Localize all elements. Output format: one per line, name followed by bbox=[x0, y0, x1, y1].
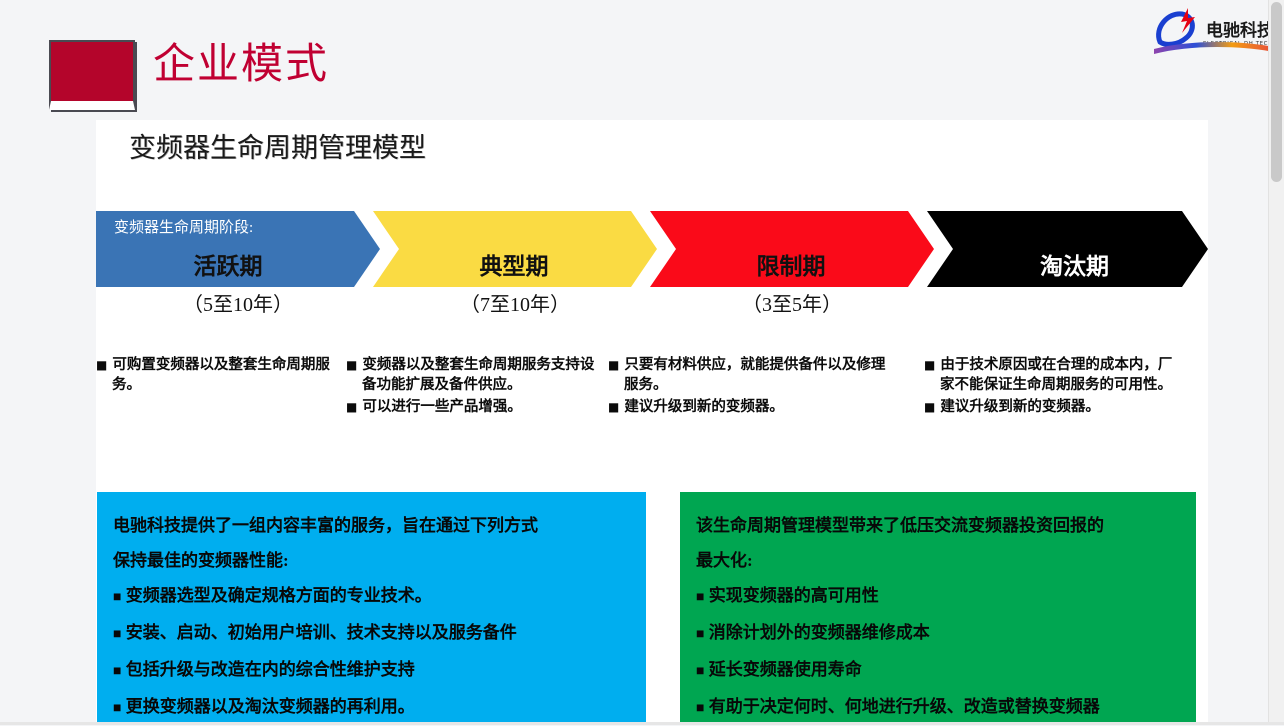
square-bullet-icon: ■ bbox=[608, 358, 619, 372]
stage-label-obsolete: 淘汰期 bbox=[927, 247, 1208, 281]
list-item: ■ 有助于决定何时、何地进行升级、改造或替换变频器 bbox=[696, 689, 1182, 726]
list-item: ■ 变频器选型及确定规格方面的专业技术。 bbox=[113, 578, 632, 615]
lifecycle-stage-band: 变频器生命周期阶段: 活跃期 典型期 限制期 淘汰期 bbox=[96, 211, 1208, 287]
square-bullet-icon: ■ bbox=[113, 664, 121, 679]
stage-chevron-active: 变频器生命周期阶段: 活跃期 bbox=[96, 211, 380, 287]
blue-intro-line-2: 保持最佳的变频器性能: bbox=[113, 543, 632, 578]
stage-years-limited: （3至5年） bbox=[650, 288, 934, 317]
list-item: ■ 可以进行一些产品增强。 bbox=[346, 397, 606, 417]
list-item: ■ 实现变频器的高可用性 bbox=[696, 578, 1182, 615]
scrollbar-thumb[interactable] bbox=[1271, 2, 1282, 182]
stage-label-active: 活跃期 bbox=[96, 247, 380, 281]
stage-chevron-obsolete: 淘汰期 bbox=[927, 211, 1208, 287]
square-bullet-icon: ■ bbox=[96, 358, 107, 372]
stage-years-classic: （7至10年） bbox=[373, 288, 657, 317]
square-bullet-icon: ■ bbox=[696, 590, 704, 605]
square-bullet-icon: ■ bbox=[608, 400, 619, 414]
square-bullet-icon: ■ bbox=[346, 400, 357, 414]
services-blue-box: 电驰科技提供了一组内容丰富的服务，旨在通过下列方式 保持最佳的变频器性能: ■ … bbox=[97, 492, 646, 725]
stage-detail-column-obsolete: ■ 由于技术原因或在合理的成本内，厂家不能保证生命周期服务的可用性。 ■ 建议升… bbox=[924, 355, 1182, 419]
model-title: 变频器生命周期管理模型 bbox=[129, 126, 426, 165]
square-bullet-icon: ■ bbox=[346, 358, 357, 372]
benefits-green-box: 该生命周期管理模型带来了低压交流变频器投资回报的 最大化: ■ 实现变频器的高可… bbox=[680, 492, 1196, 725]
title-accent-block bbox=[49, 40, 135, 110]
dianchi-technology-logo: 电驰科技 TM ELECTRICAL DH TECHNOLOGY bbox=[1148, 2, 1278, 58]
list-item: ■ 包括升级与改造在内的综合性维护支持 bbox=[113, 652, 632, 689]
square-bullet-icon: ■ bbox=[924, 400, 935, 414]
list-item: ■ 建议升级到新的变频器。 bbox=[924, 397, 1182, 417]
stage-band-caption: 变频器生命周期阶段: bbox=[114, 216, 253, 237]
list-item: ■ 由于技术原因或在合理的成本内，厂家不能保证生命周期服务的可用性。 bbox=[924, 355, 1182, 395]
list-item: ■ 延长变频器使用寿命 bbox=[696, 652, 1182, 689]
list-item: ■ 可购置变频器以及整套生命周期服务。 bbox=[96, 355, 344, 395]
square-bullet-icon: ■ bbox=[113, 701, 121, 716]
square-bullet-icon: ■ bbox=[113, 627, 121, 642]
list-item: ■ 消除计划外的变频器维修成本 bbox=[696, 615, 1182, 652]
stage-detail-columns: ■ 可购置变频器以及整套生命周期服务。 ■ 变频器以及整套生命周期服务支持设备功… bbox=[96, 355, 1208, 465]
list-item: ■ 建议升级到新的变频器。 bbox=[608, 397, 888, 417]
vertical-scrollbar[interactable] bbox=[1268, 0, 1284, 725]
list-item: ■ 变频器以及整套生命周期服务支持设备功能扩展及备件供应。 bbox=[346, 355, 606, 395]
square-bullet-icon: ■ bbox=[113, 590, 121, 605]
svg-text:电驰科技: 电驰科技 bbox=[1206, 20, 1275, 41]
square-bullet-icon: ■ bbox=[696, 664, 704, 679]
stage-chevron-classic: 典型期 bbox=[373, 211, 657, 287]
stage-label-classic: 典型期 bbox=[373, 247, 657, 281]
blue-intro-line-1: 电驰科技提供了一组内容丰富的服务，旨在通过下列方式 bbox=[113, 508, 632, 543]
content-panel: 变频器生命周期管理模型 变频器生命周期阶段: 活跃期 典型期 限制期 淘汰期 （… bbox=[96, 120, 1208, 725]
stage-chevron-limited: 限制期 bbox=[650, 211, 934, 287]
square-bullet-icon: ■ bbox=[924, 358, 935, 372]
list-item: ■ 更换变频器以及淘汰变频器的再利用。 bbox=[113, 689, 632, 726]
green-intro-line-1: 该生命周期管理模型带来了低压交流变频器投资回报的 bbox=[696, 508, 1182, 543]
stage-years-active: （5至10年） bbox=[96, 288, 400, 317]
square-bullet-icon: ■ bbox=[696, 701, 704, 716]
list-item: ■ 安装、启动、初始用户培训、技术支持以及服务备件 bbox=[113, 615, 632, 652]
green-intro-line-2: 最大化: bbox=[696, 543, 1182, 578]
page-title: 企业模式 bbox=[153, 43, 329, 85]
stage-label-limited: 限制期 bbox=[650, 247, 934, 281]
stage-detail-column-limited: ■ 只要有材料供应，就能提供备件以及修理服务。 ■ 建议升级到新的变频器。 bbox=[608, 355, 888, 419]
stage-detail-column-active: ■ 可购置变频器以及整套生命周期服务。 bbox=[96, 355, 344, 397]
stage-detail-column-classic: ■ 变频器以及整套生命周期服务支持设备功能扩展及备件供应。 ■ 可以进行一些产品… bbox=[346, 355, 606, 419]
square-bullet-icon: ■ bbox=[696, 627, 704, 642]
slide-header: 企业模式 电驰科技 TM ELECTRICAL DH TECHNOLOGY bbox=[0, 0, 1284, 118]
list-item: ■ 只要有材料供应，就能提供备件以及修理服务。 bbox=[608, 355, 888, 395]
